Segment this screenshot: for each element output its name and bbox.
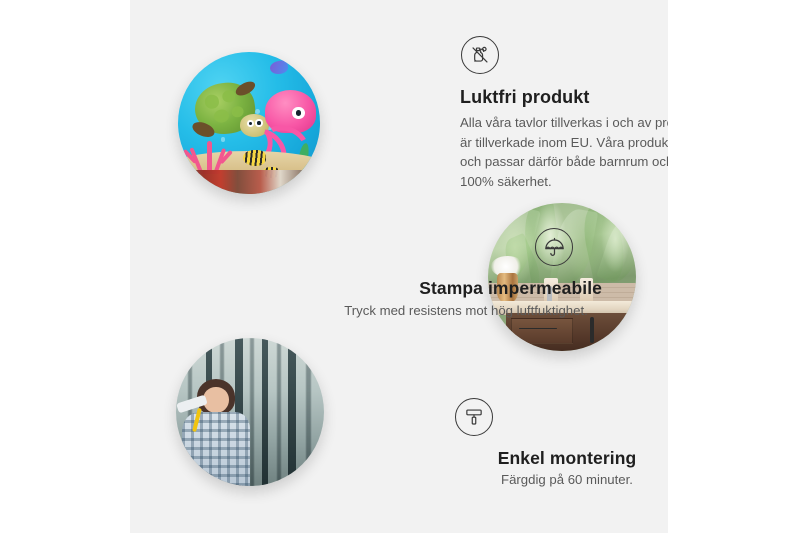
wood-vanity-cabinet (506, 313, 636, 351)
feature-description: Färgdig på 60 minuter. (442, 472, 668, 487)
feature-title: Stampa impermeabile (326, 278, 606, 299)
feature-block-waterproof-print: Stampa impermeabile Tryck med resistens … (326, 228, 606, 318)
cabinet-drawer (511, 318, 573, 344)
feature-block-odour-free: Luktfri produkt Alla våra tavlor tillver… (460, 36, 668, 191)
door-handle (626, 317, 630, 342)
no-fragrance-icon (461, 36, 499, 74)
sea-floor-objects (178, 170, 320, 194)
octopus-eye (292, 107, 304, 119)
feature-description: Tryck med resistens mot hög luftfuktighe… (326, 303, 606, 318)
feature-block-easy-mounting: Enkel montering Färgdig på 60 minuter. (442, 398, 668, 487)
feature-image-woman-paint-roller-forest-mural (176, 338, 324, 486)
feature-title: Luktfri produkt (460, 87, 668, 108)
door-handle (590, 317, 594, 342)
product-feature-banner: Luktfri produkt Alla våra tavlor tillver… (0, 0, 800, 533)
umbrella-icon (535, 228, 573, 266)
paint-roller-icon (455, 398, 493, 436)
coral (187, 132, 235, 175)
woman-plaid-shirt (182, 412, 250, 486)
feature-title: Enkel montering (442, 448, 668, 469)
banner-canvas: Luktfri produkt Alla våra tavlor tillver… (130, 0, 668, 533)
feature-description: Alla våra tavlor tillverkas i och av pro… (460, 113, 668, 191)
feature-image-underwater-kids-mural (178, 52, 320, 194)
yellow-fish-icon (243, 150, 266, 166)
